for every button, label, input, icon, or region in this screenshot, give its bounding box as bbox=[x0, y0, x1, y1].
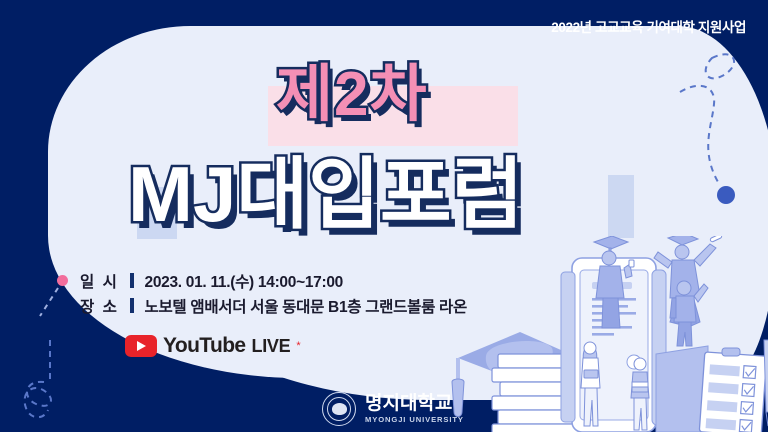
blue-highlight-bar-right bbox=[608, 175, 634, 238]
event-info: 일 시 2023. 01. 11.(수) 14:00~17:00 장 소 노보텔… bbox=[80, 268, 467, 318]
university-name: 명지대학교 MYONGJI UNIVERSITY bbox=[365, 394, 464, 424]
dashed-loop-bottom-left bbox=[25, 382, 51, 417]
info-row-venue: 장 소 노보텔 앰배서더 서울 동대문 B1층 그랜드볼룸 라온 bbox=[80, 293, 467, 318]
info-label-date: 일 시 bbox=[80, 270, 126, 292]
title-line-1: 제2차 bbox=[276, 64, 428, 126]
youtube-live-label: LIVE bbox=[252, 336, 291, 357]
divider-bar bbox=[130, 273, 134, 288]
asterisk-icon: * bbox=[296, 340, 300, 352]
program-label: 2022년 고교교육 기여대학 지원사업 bbox=[551, 16, 746, 36]
clipboard-checklist-icon bbox=[699, 348, 766, 432]
divider-bar bbox=[130, 298, 134, 313]
info-value-date: 2023. 01. 11.(수) 14:00~17:00 bbox=[145, 270, 343, 292]
university-seal-icon bbox=[322, 392, 356, 426]
student-reading-icon bbox=[581, 342, 600, 426]
info-label-venue: 장 소 bbox=[80, 295, 126, 317]
dashed-line-dot-tail bbox=[40, 288, 58, 316]
education-illustration bbox=[448, 236, 768, 432]
accent-dot bbox=[57, 275, 68, 286]
youtube-brand-label: YouTube bbox=[163, 334, 246, 358]
info-value-venue: 노보텔 앰배서더 서울 동대문 B1층 그랜드볼룸 라온 bbox=[145, 295, 467, 317]
event-poster: 2022년 고교교육 기여대학 지원사업 제2차 MJ대입포럼 bbox=[0, 0, 768, 432]
info-row-date: 일 시 2023. 01. 11.(수) 14:00~17:00 bbox=[80, 268, 467, 293]
university-name-kr: 명지대학교 bbox=[365, 394, 464, 413]
title-line-2: MJ대입포럼 bbox=[128, 155, 523, 233]
youtube-play-icon bbox=[125, 335, 157, 357]
youtube-live-badge[interactable]: YouTube LIVE * bbox=[125, 334, 301, 358]
university-logo: 명지대학교 MYONGJI UNIVERSITY bbox=[322, 392, 464, 426]
university-name-en: MYONGJI UNIVERSITY bbox=[365, 416, 464, 424]
